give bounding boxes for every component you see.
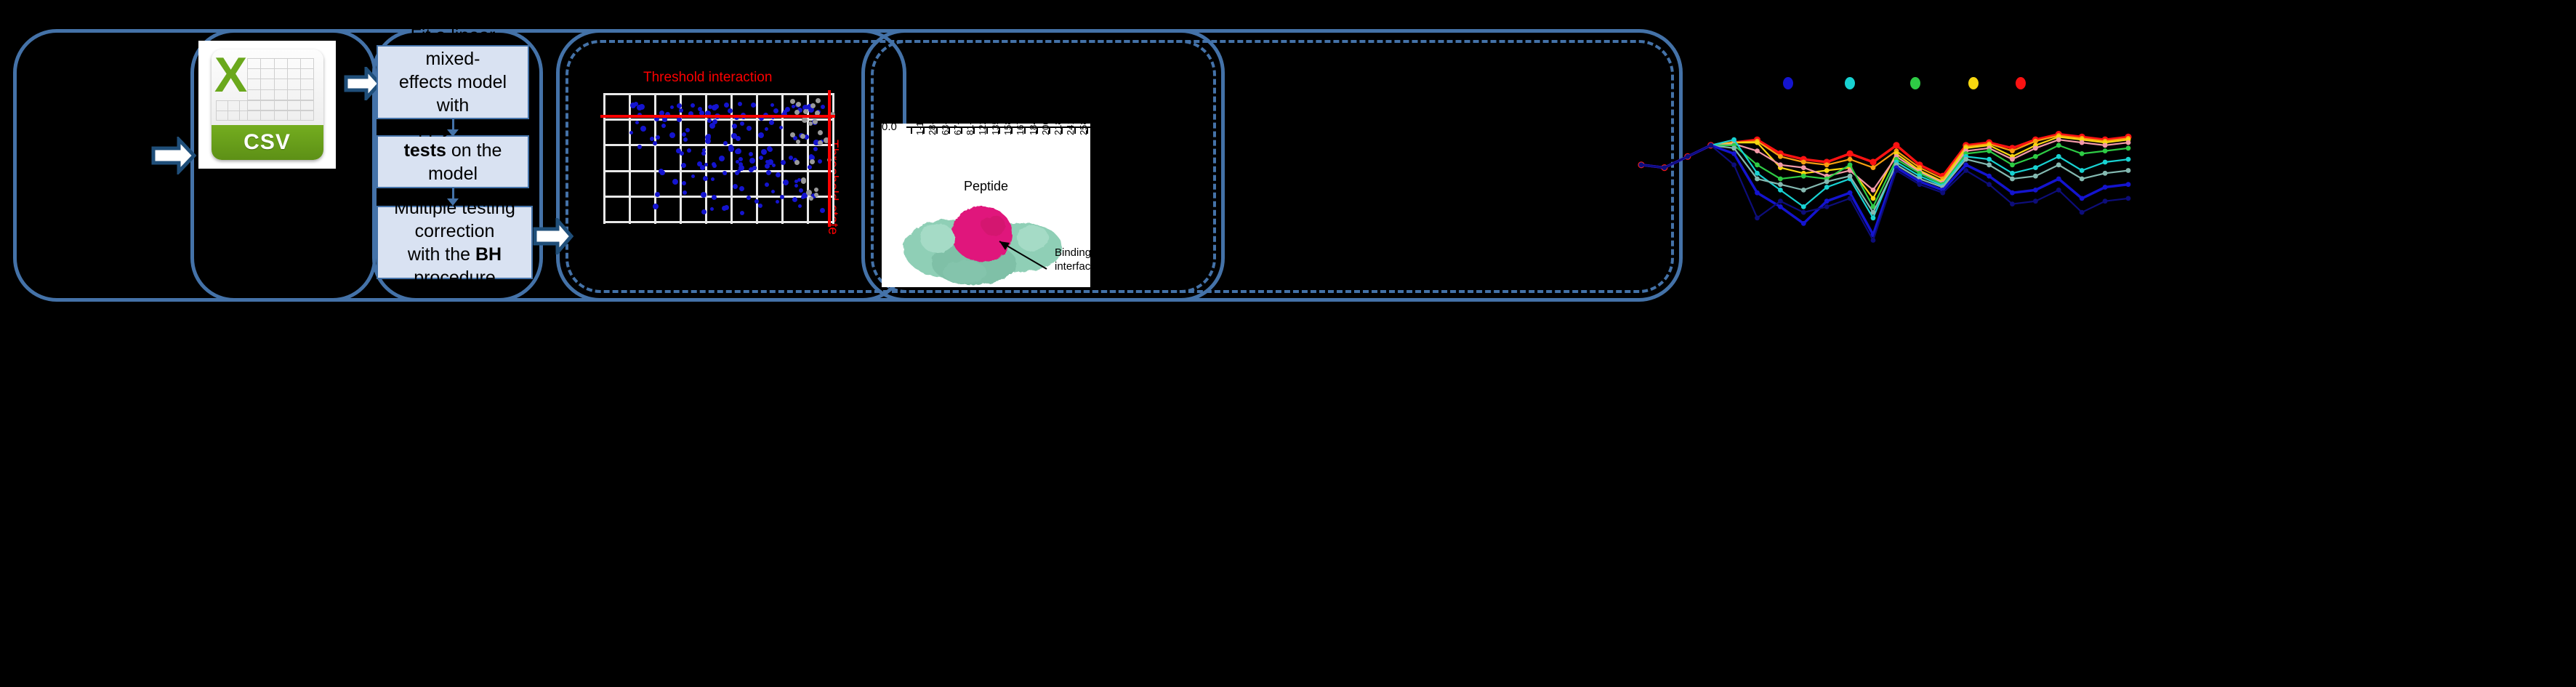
scatter-point: [735, 149, 740, 154]
chart-series-marker: [1871, 238, 1876, 243]
binding-interface-label: Binding interface: [1055, 246, 1090, 273]
chart-series-marker: [1824, 179, 1830, 184]
chart-series-marker: [2033, 154, 2038, 159]
legend-dot: [1845, 77, 1855, 89]
fit-model-line1: Fit a linear mixed-: [411, 25, 496, 69]
csv-label: CSV: [243, 130, 291, 155]
chart-series-marker: [1963, 162, 1968, 167]
scatter-point: [796, 140, 800, 144]
chart-series-marker: [2010, 148, 2015, 153]
scatter-point: [656, 135, 660, 140]
chart-series-marker: [1778, 198, 1783, 204]
scatter-point: [672, 179, 678, 185]
scatter-point: [701, 209, 707, 214]
chart-series-marker: [2080, 151, 2085, 156]
scatter-point: [687, 148, 691, 153]
chart-series-marker: [1917, 182, 1923, 187]
scatter-point: [766, 170, 771, 175]
chart-series-marker: [1801, 174, 1806, 179]
chart-series-marker: [1731, 151, 1736, 156]
scatter-point: [758, 132, 764, 138]
chart-legend: [1627, 77, 2136, 92]
chart-series-marker: [1731, 145, 1736, 150]
scatter-point: [761, 149, 767, 155]
chart-series-marker: [2080, 168, 2085, 173]
chart-lines: [1627, 65, 2136, 254]
chart-series-marker: [1893, 142, 1899, 148]
scatter-point: [746, 196, 751, 200]
scatter-point: [770, 103, 774, 107]
chart-series-marker: [2033, 145, 2038, 150]
scatter-plot: [603, 93, 832, 224]
chart-series-marker: [1987, 162, 1992, 167]
chart-series-marker: [2033, 198, 2038, 204]
chart-series-marker: [1987, 182, 1992, 187]
scatter-point: [691, 174, 695, 178]
scatter-point: [813, 119, 818, 124]
chart-series-marker: [1778, 204, 1783, 209]
arrow-stats-to-scatter: [533, 218, 573, 254]
chart-series-marker: [1708, 143, 1713, 148]
scatter-point: [776, 172, 781, 177]
x-axis-tick-label: 63-73: [940, 124, 951, 135]
chart-series-marker: [2056, 154, 2061, 159]
scatter-point: [746, 126, 752, 131]
scatter-point: [776, 200, 779, 204]
scatter-point: [803, 109, 808, 114]
x-axis-tick: [911, 128, 912, 134]
csv-label-band: CSV: [212, 125, 323, 160]
chart-series-marker: [2033, 174, 2038, 179]
scatter-point: [767, 146, 772, 151]
x-axis-tick-label: 167-180: [1015, 124, 1026, 135]
scatter-point: [677, 117, 682, 122]
peptide-line-chart: [1627, 65, 2136, 254]
scatter-point: [670, 105, 674, 109]
x-axis-tick-label: 158-166: [1002, 124, 1013, 135]
x-axis-tick-label: 81-101: [965, 124, 975, 135]
scatter-point: [821, 105, 825, 109]
scatter-point: [685, 128, 690, 132]
chart-series-marker: [1848, 162, 1853, 167]
scatter-point: [792, 197, 797, 202]
x-axis-tick-label: 200-214: [1040, 124, 1051, 135]
chart-series-marker: [1963, 157, 1968, 162]
scatter-point: [749, 152, 753, 156]
chart-series-marker: [1801, 221, 1806, 226]
scatter-point: [640, 126, 646, 132]
scatter-point: [681, 163, 686, 168]
chart-series-marker: [1987, 174, 1992, 179]
chart-series-marker: [1871, 215, 1876, 220]
chart-series-marker: [2126, 145, 2131, 150]
scatter-point: [749, 158, 755, 164]
chart-series-marker: [2056, 143, 2061, 148]
chart-series-marker: [1940, 190, 1945, 196]
chart-series-marker: [2010, 162, 2015, 167]
scatter-point: [702, 148, 706, 152]
fit-model-line2: effects model with: [399, 72, 507, 116]
x-axis-tick-label: 28-44: [927, 124, 938, 135]
chart-series-marker: [1755, 140, 1760, 145]
scatter-point: [780, 195, 784, 199]
scatter-point: [655, 192, 660, 197]
chart-series-marker: [2080, 177, 2085, 182]
x-axis-tick-label: 258-266: [1078, 124, 1089, 135]
scatter-point: [809, 196, 813, 201]
connector-arrowhead-2: [447, 198, 459, 206]
scatter-point: [650, 137, 654, 141]
chart-series-marker: [2056, 162, 2061, 167]
x-axis-tick-label: 67-75: [952, 124, 963, 135]
scatter-point: [813, 147, 818, 151]
chart-series-marker: [2103, 160, 2108, 165]
csv-grid-lower: [216, 100, 314, 121]
scatter-point: [801, 179, 806, 184]
chart-series-marker: [1731, 137, 1736, 142]
threshold-interaction-label: Threshold interaction: [643, 70, 772, 86]
legend-dot: [1910, 77, 1920, 89]
chart-series-marker: [1778, 162, 1783, 167]
protein-structure-image: [898, 196, 1066, 287]
x-axis-tick-label: 241-257: [1065, 124, 1076, 135]
scatter-point: [790, 99, 795, 104]
x-axis-tick-label: 122-129: [977, 124, 988, 135]
chart-series-marker: [1894, 168, 1899, 173]
scatter-point: [790, 132, 795, 137]
chart-series-marker: [2126, 168, 2131, 173]
chart-series-marker: [2080, 140, 2085, 145]
scatter-point: [723, 141, 728, 145]
wald-tests-box: Apply Wald tests on the model parameters: [377, 135, 529, 188]
scatter-point: [739, 186, 744, 191]
scatter-point: [796, 102, 801, 107]
chart-series-marker: [1871, 196, 1876, 201]
chart-series-marker: [1963, 168, 1968, 173]
chart-series-marker: [2126, 140, 2131, 145]
scatter-point: [754, 199, 759, 204]
chart-series-marker: [1801, 160, 1806, 165]
chart-series-marker: [1871, 210, 1876, 215]
chart-series-marker: [1778, 188, 1783, 193]
chart-series-marker: [1801, 188, 1806, 193]
scatter-point: [806, 190, 812, 196]
chart-series-marker: [1824, 185, 1830, 190]
chart-series-marker: [1871, 165, 1876, 170]
scatter-point: [659, 169, 664, 174]
scatter-point: [732, 124, 737, 129]
scatter-point: [680, 151, 684, 156]
scatter-point: [789, 156, 793, 160]
scatter-point: [711, 177, 715, 181]
chart-series-marker: [1639, 162, 1644, 167]
chart-series-marker: [1778, 154, 1783, 159]
chart-series-marker: [1731, 162, 1736, 167]
scatter-point: [677, 103, 682, 108]
y-axis-zero-label: 0.0: [882, 124, 897, 133]
threshold-state-line: [828, 90, 831, 227]
scatter-point: [769, 120, 774, 125]
chart-series-marker: [1755, 162, 1760, 167]
chart-series-marker: [2103, 171, 2108, 176]
chart-series-marker: [1755, 177, 1760, 182]
chart-series-marker: [1801, 165, 1806, 170]
scatter-point: [723, 171, 727, 175]
scatter-point: [733, 184, 738, 189]
threshold-interaction-line: [600, 115, 835, 118]
chart-series-marker: [1778, 177, 1783, 182]
scatter-point: [701, 192, 707, 198]
chart-series-marker: [1848, 196, 1853, 201]
scatter-point: [639, 104, 645, 110]
chart-series-marker: [1824, 168, 1830, 173]
scatter-point: [759, 156, 763, 160]
scatter-point: [808, 121, 813, 126]
scatter-point: [792, 105, 795, 108]
chart-series-marker: [1869, 158, 1876, 165]
scatter-point: [728, 146, 734, 152]
arrow-input-to-csv: [151, 137, 196, 174]
excel-x-glyph: X: [214, 52, 248, 97]
scatter-point: [800, 134, 805, 139]
fit-model-box: Fit a linear mixed- effects model with R…: [377, 45, 529, 119]
scatter-point: [820, 208, 825, 213]
chart-series-marker: [1824, 204, 1830, 209]
csv-file-icon: X CSV: [212, 49, 323, 160]
chart-series-marker: [1824, 198, 1830, 204]
chart-series-marker: [1778, 182, 1783, 187]
chart-series-marker: [2126, 196, 2131, 201]
x-axis-tick-label: 184-199: [1028, 124, 1039, 135]
x-axis-tick-label: 135-144: [990, 124, 1001, 135]
chart-series-marker: [2033, 188, 2038, 193]
chart-series-marker: [1685, 154, 1690, 159]
scatter-point: [719, 156, 725, 161]
chart-series-marker: [1871, 188, 1876, 193]
chart-series-marker: [1848, 157, 1853, 162]
chart-series-marker: [1847, 150, 1853, 157]
scatter-point: [712, 164, 717, 168]
chart-series-marker: [1755, 215, 1760, 220]
chart-series-marker: [2103, 148, 2108, 153]
chart-series-marker: [2010, 157, 2015, 162]
scatter-point: [781, 160, 786, 165]
chart-series-marker: [1755, 190, 1760, 196]
chart-series-marker: [2103, 185, 2108, 190]
binding-label-line2: interface: [1055, 260, 1090, 273]
chart-series-marker: [1987, 148, 1992, 153]
chart-series-marker: [2103, 198, 2108, 204]
mt-line2-post: procedure: [414, 268, 496, 288]
chart-series-marker: [1801, 210, 1806, 215]
mt-bold: BH: [475, 244, 502, 265]
x-axis-tick-label: 1-15: [914, 124, 925, 135]
chart-series-marker: [2126, 157, 2131, 162]
scatter-point: [751, 103, 756, 108]
chart-series-marker: [2080, 210, 2085, 215]
chart-series-marker: [2010, 201, 2015, 206]
chart-series-marker: [2010, 171, 2015, 176]
chart-series-marker: [2010, 190, 2015, 196]
scatter-point: [635, 121, 639, 124]
scatter-point: [740, 211, 744, 215]
csv-file-card: X CSV: [198, 41, 336, 169]
chart-series-marker: [2056, 177, 2061, 182]
legend-dot: [2016, 77, 2026, 89]
chart-series-marker: [2103, 143, 2108, 148]
multiple-testing-box: Multiple testing correction with the BH …: [377, 206, 533, 279]
chart-series-marker: [2080, 196, 2085, 201]
scatter-point: [765, 182, 769, 187]
chart-series-marker: [1848, 174, 1853, 179]
legend-dot: [1783, 77, 1793, 89]
chart-series-marker: [2126, 182, 2131, 187]
x-axis-tick-label: 218-237: [1052, 124, 1063, 135]
chart-series-marker: [2010, 177, 2015, 182]
scatter-point: [629, 131, 633, 134]
scatter-point: [810, 159, 815, 164]
chart-series-marker: [2056, 188, 2061, 193]
legend-dot: [1968, 77, 1979, 89]
scatter-point: [698, 107, 702, 111]
chart-series-marker: [1987, 157, 1992, 162]
mt-line2-pre: with the: [408, 244, 475, 265]
binding-label-line1: Binding: [1055, 246, 1090, 259]
connector-arrowhead-1: [447, 129, 459, 137]
chart-series-marker: [2056, 137, 2061, 142]
scatter-point: [722, 206, 727, 211]
chart-series-marker: [1755, 148, 1760, 153]
scatter-point: [814, 193, 818, 197]
scatter-point: [682, 132, 686, 137]
chart-series-marker: [1824, 162, 1830, 167]
chart-series-marker: [1662, 165, 1667, 170]
results-white-card: 0.0 1-1528-4463-7367-7581-101122-129135-…: [882, 124, 1090, 287]
x-axis-title: Peptide: [882, 179, 1090, 194]
chart-series-marker: [1801, 204, 1806, 209]
chart-series-marker: [2033, 165, 2038, 170]
chart-series-marker: [1755, 171, 1760, 176]
scatter-point: [794, 110, 800, 115]
scatter-point: [765, 160, 769, 164]
scatter-point: [773, 108, 778, 113]
scatter-point: [794, 160, 800, 165]
chart-series-marker: [1848, 190, 1853, 196]
